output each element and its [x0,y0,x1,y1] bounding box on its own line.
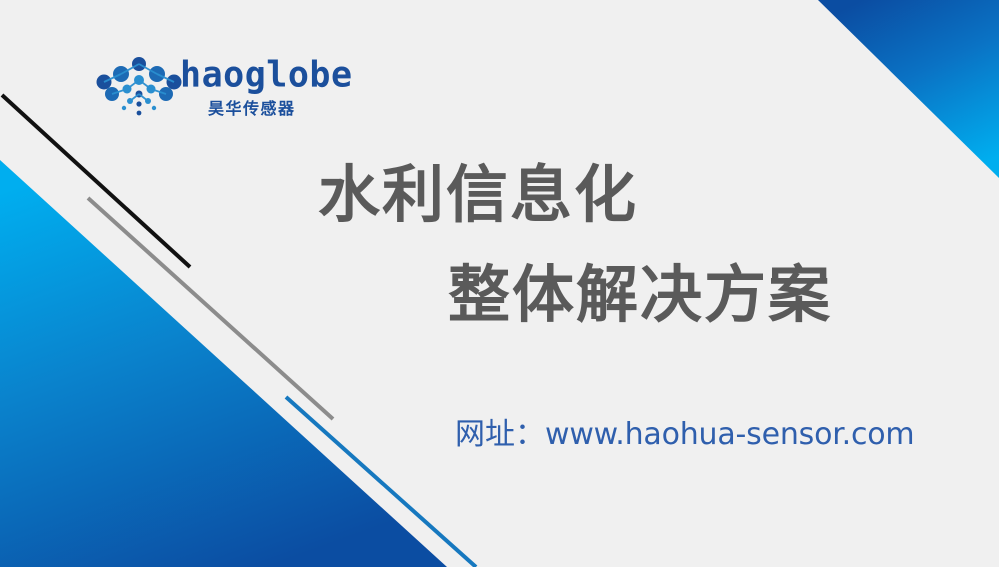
diagonal-line-blue [286,397,476,567]
page-title-line-1: 水利信息化 [318,164,638,226]
website-line: 网址：www.haohua-sensor.com [455,420,914,450]
logo-wordmark: haoglobe [180,56,353,95]
top-right-triangle [818,0,999,178]
logo-text: haoglobe 昊华传感器 [180,52,326,124]
haoglobe-network-mark-icon [96,56,182,120]
diagonal-line-gray [88,198,333,419]
page-title-line-2: 整体解决方案 [448,264,832,326]
website-url[interactable]: www.haohua-sensor.com [545,417,914,452]
company-logo: haoglobe 昊华传感器 [96,52,326,130]
logo-subtitle: 昊华传感器 [208,95,296,119]
slide-canvas: haoglobe 昊华传感器 水利信息化 整体解决方案 网址：www.haohu… [0,0,999,567]
website-label: 网址： [455,417,545,452]
